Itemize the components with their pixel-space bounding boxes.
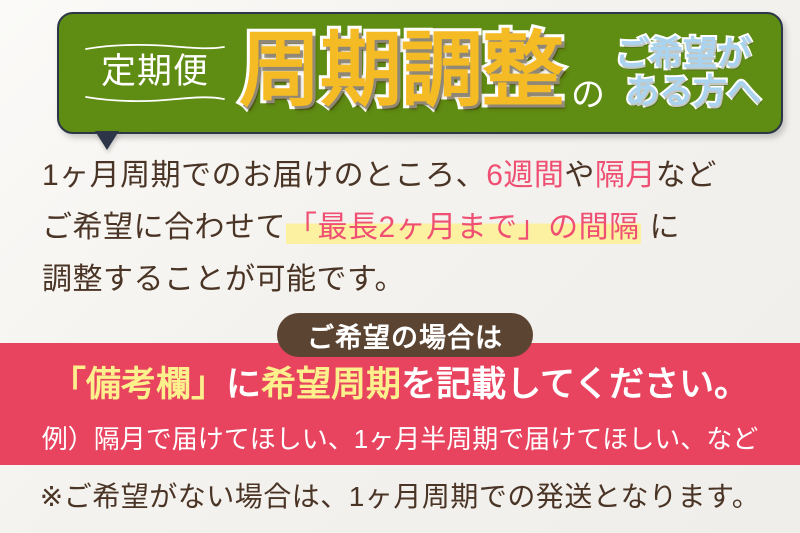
instruction-highlight-cycle: 希望周期 [261,365,401,404]
instruction-examples: 例）隔月で届けてほしい、1ヶ月半周期で届けてほしい、など [0,422,800,456]
body-line-1-segment-a: 1ヶ月周期でのお届けのところ、 [42,159,486,192]
instruction-highlight-remarks: 「備考欄」 [51,365,226,404]
request-case-pill: ご希望の場合は [277,313,533,357]
body-line-3: 調整することが可能です。 [42,254,772,306]
headline-connector: の [571,67,605,116]
wavy-rule-top-icon [85,43,225,52]
header-content-row: 定期便 周期調整 の ご希望が ある方へ [59,14,781,132]
body-line-2: ご希望に合わせて「最長2ヶ月まで」の間隔 に [42,202,772,254]
wavy-rule-bottom-icon [85,94,225,103]
subscription-badge-label: 定期便 [101,52,209,94]
headline-secondary-line1: ご希望が [615,35,751,73]
instruction-segment-a: に [226,365,261,404]
request-case-pill-label: ご希望の場合は [307,316,503,355]
body-line-1-segment-c: など [656,159,717,192]
promo-banner: 定期便 周期調整 の ご希望が ある方へ 1ヶ月周期でのお届けのところ、6週間や… [0,0,800,533]
body-line-1: 1ヶ月周期でのお届けのところ、6週間や隔月など [42,150,772,202]
body-line-2-highlight-maxtwomonths: 「最長2ヶ月まで」の間隔 [286,211,641,244]
body-line-2-segment-a: ご希望に合わせて [42,211,286,244]
body-line-1-segment-b: や [564,159,595,192]
headline-secondary-line2: ある方へ [615,73,761,111]
headline-primary: 周期調整 [239,30,563,112]
instruction-segment-b: を記載してください。 [401,365,749,404]
subscription-badge: 定期便 [81,43,229,103]
footer-disclaimer: ※ご希望がない場合は、1ヶ月周期での発送となります。 [0,478,800,516]
speech-bubble-tail-icon [96,132,118,149]
body-paragraph: 1ヶ月周期でのお届けのところ、6週間や隔月など ご希望に合わせて「最長2ヶ月まで… [42,150,772,306]
body-line-2-segment-b: に [641,211,680,244]
headline-secondary: ご希望が ある方へ [615,35,761,111]
body-line-1-emphasis-6weeks: 6週間 [486,159,564,192]
header-bubble: 定期便 周期調整 の ご希望が ある方へ [57,12,783,134]
instruction-headline: 「備考欄」に希望周期を記載してください。 [0,363,800,407]
body-line-1-emphasis-bimonthly: 隔月 [595,159,656,192]
